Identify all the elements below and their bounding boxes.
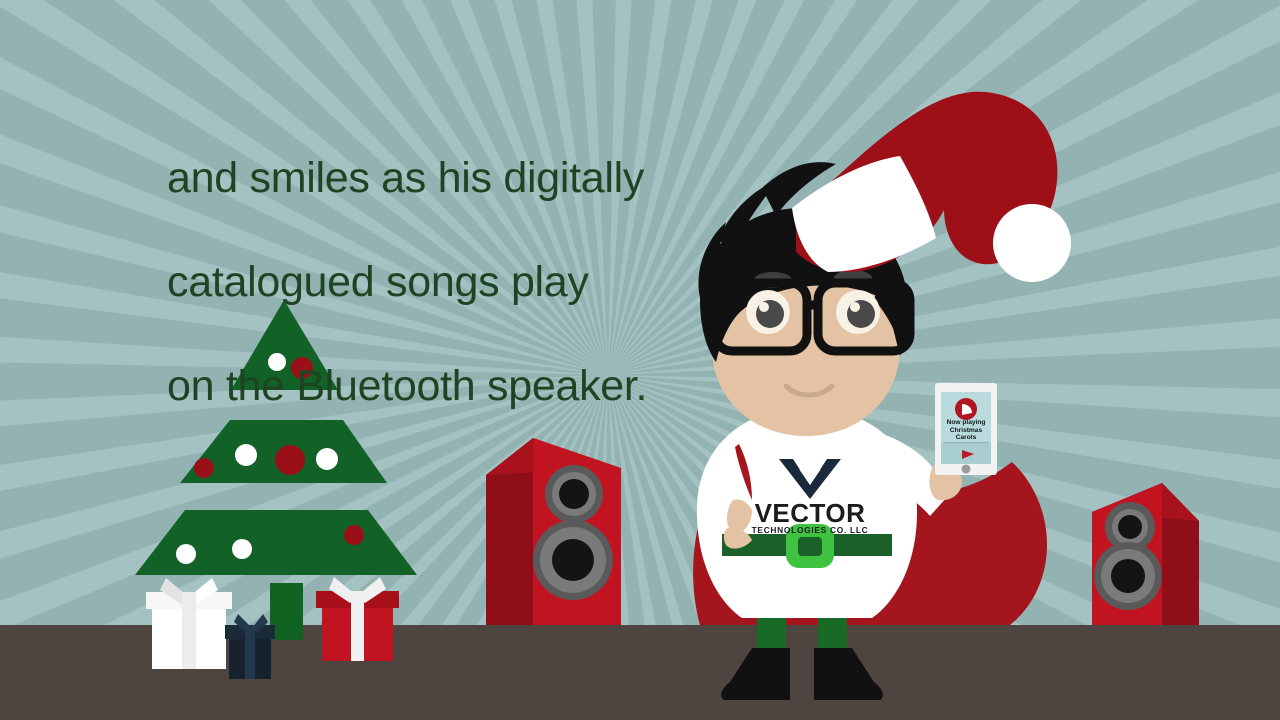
scene-illustration [0, 0, 1280, 720]
santa-hat-pompom [993, 204, 1071, 282]
speaker-woofer [533, 520, 613, 600]
speaker-left [486, 438, 621, 625]
tree-ornament [194, 458, 214, 478]
eye-right-highlight [850, 302, 860, 312]
speaker-tweeter [545, 465, 603, 523]
music-play-circle-icon [955, 398, 977, 420]
tree-ornament [235, 444, 257, 466]
gift-ribbon-vertical [351, 591, 364, 661]
tree-ornament [316, 448, 338, 470]
speaker-woofer [1094, 542, 1162, 610]
gift-ribbon-vertical [182, 592, 196, 669]
eye-left-highlight [759, 302, 769, 312]
tree-ornament [232, 539, 252, 559]
tree-ornament [268, 353, 286, 371]
tree-ornament [344, 525, 364, 545]
tree-ornament [291, 357, 313, 379]
scene-stage: and smiles as his digitally catalogued s… [0, 0, 1280, 720]
tree-ornament [176, 544, 196, 564]
smartphone[interactable] [935, 383, 997, 475]
tree-ornament [275, 445, 305, 475]
belt-buckle-hole [798, 537, 822, 556]
gift-ribbon-vertical [245, 625, 255, 679]
home-button[interactable] [962, 465, 971, 474]
